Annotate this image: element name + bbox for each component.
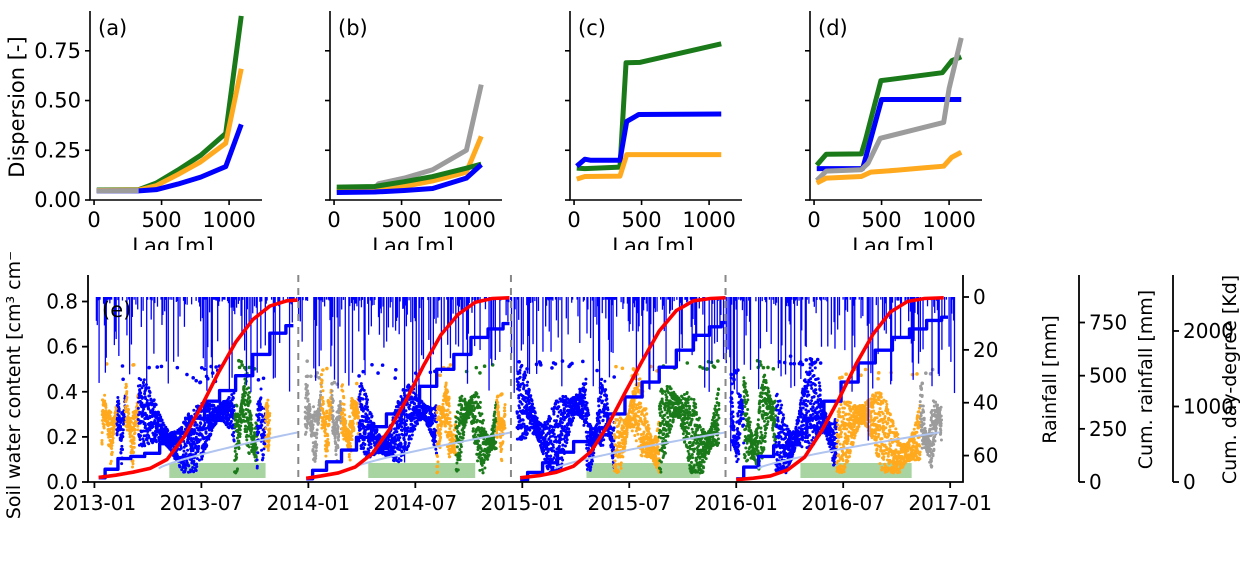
variogram-panel-c: 05001000Lag [m](c) (565, 11, 742, 250)
variogram-ylabel: Dispersion [-] (5, 36, 29, 177)
panel-tag: (b) (338, 16, 368, 40)
panel-tag: (a) (98, 16, 127, 40)
variogram-xlabel: Lag [m] (132, 234, 213, 250)
x-tick-label: 500 (622, 208, 662, 232)
growing-season-bar (586, 463, 699, 478)
x-tick-label: 500 (382, 208, 422, 232)
cum-daydegree-tick-label: 0 (1183, 470, 1196, 494)
timeseries-content (96, 275, 954, 482)
x-tick-label: 0 (327, 208, 340, 232)
swc-scatter-block (658, 359, 721, 474)
variogram-line-blue (577, 114, 722, 166)
swc-scatter-block (495, 392, 506, 462)
swc-tick-label: 0.8 (46, 290, 78, 314)
y-tick-label: 0.25 (34, 138, 81, 162)
x-tick-label: 0 (87, 208, 100, 232)
variogram-panel-d: 05001000Lag [m](d) (805, 11, 982, 250)
date-tick-label: 2015-01 (481, 491, 565, 515)
x-tick-label: 1000 (922, 208, 975, 232)
variogram-xlabel: Lag [m] (852, 234, 933, 250)
variogram-line-gray (817, 38, 962, 181)
cum-rainfall-axis-label: Cum. rainfall [mm] (1135, 290, 1157, 469)
rainfall-axis-label: Rainfall [mm] (1039, 315, 1061, 444)
y-tick-label: 0.00 (34, 188, 81, 212)
x-tick-label: 1000 (682, 208, 735, 232)
swc-scatter-block (124, 363, 140, 468)
date-tick-label: 2013-07 (160, 491, 244, 515)
variogram-panel-a: 0.000.250.500.7505001000Lag [m](a) (34, 11, 262, 250)
variogram-svg: Dispersion [-]0.000.250.500.7505001000La… (0, 0, 1050, 250)
x-tick-label: 500 (142, 208, 182, 232)
date-tick-label: 2016-07 (801, 491, 885, 515)
date-tick-label: 2017-01 (908, 491, 992, 515)
panel-tag: (c) (578, 16, 606, 40)
y-tick-label: 0.75 (34, 39, 81, 63)
variogram-panel-row: Dispersion [-]0.000.250.500.7505001000La… (0, 0, 1050, 250)
rainfall-tick-label: 20 (973, 338, 998, 362)
swc-scatter-block (435, 363, 457, 474)
x-tick-label: 1000 (442, 208, 495, 232)
panel-tag: (d) (818, 16, 848, 40)
timeseries-root: 0.00.20.40.60.8Soil water content [cm³ c… (3, 252, 1241, 519)
figure-root: Dispersion [-]0.000.250.500.7505001000La… (0, 0, 1244, 565)
date-tick-label: 2013-01 (53, 491, 137, 515)
swc-scatter-block (515, 359, 587, 474)
variogram-line-green (817, 57, 962, 165)
swc-tick-label: 0.4 (46, 380, 78, 404)
cum-daydegree-axis-label: Cum. day-degree [Kd] (1219, 275, 1241, 484)
cum-rainfall-tick-label: 750 (1089, 311, 1127, 335)
y-tick-label: 0.50 (34, 89, 81, 113)
date-tick-label: 2014-01 (267, 491, 351, 515)
cum-rainfall-tick-label: 0 (1089, 470, 1102, 494)
rainfall-tick-label: 0 (973, 285, 986, 309)
x-tick-label: 500 (862, 208, 902, 232)
cum-rainfall-tick-label: 500 (1089, 364, 1127, 388)
swc-scatter-block (454, 363, 498, 474)
date-tick-label: 2016-01 (694, 491, 778, 515)
rainfall-tick-label: 60 (973, 444, 998, 468)
swc-axis-label: Soil water content [cm³ cm⁻³] (3, 252, 25, 519)
date-tick-label: 2014-07 (374, 491, 458, 515)
variogram-xlabel: Lag [m] (612, 234, 693, 250)
swc-tick-label: 0.6 (46, 335, 78, 359)
swc-scatter-block (115, 364, 126, 465)
x-tick-label: 0 (567, 208, 580, 232)
cum-rainfall-tick-label: 250 (1089, 417, 1127, 441)
variogram-xlabel: Lag [m] (372, 234, 453, 250)
variogram-line-green (577, 44, 722, 169)
variogram-line-green (97, 16, 242, 190)
rainfall-tick-label: 40 (973, 391, 998, 415)
timeseries-svg: 0.00.20.40.60.8Soil water content [cm³ c… (0, 252, 1244, 565)
swc-scatter-block (100, 362, 118, 465)
variogram-line-orange (97, 69, 242, 191)
swc-scatter-block (919, 368, 943, 469)
x-tick-label: 0 (807, 208, 820, 232)
panel-tag-e: (e) (102, 298, 131, 322)
swc-tick-label: 0.2 (46, 425, 78, 449)
timeseries-panel: 0.00.20.40.60.8Soil water content [cm³ c… (0, 252, 1244, 565)
x-tick-label: 1000 (202, 208, 255, 232)
date-tick-label: 2015-07 (587, 491, 671, 515)
swc-scatter-block (304, 359, 323, 463)
variogram-panel-b: 05001000Lag [m](b) (325, 11, 502, 250)
swc-scatter-block (137, 364, 236, 473)
